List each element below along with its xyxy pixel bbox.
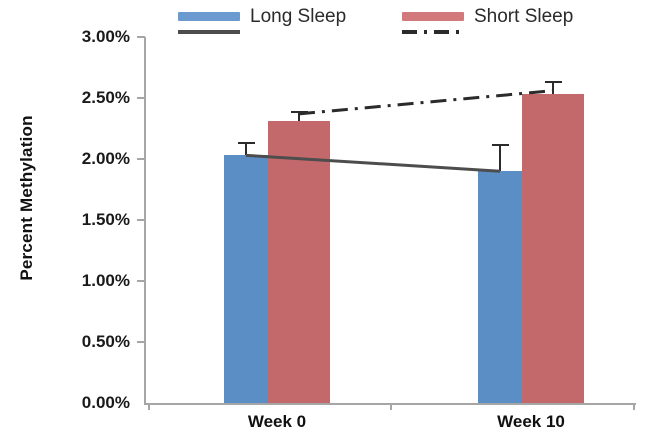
x-axis-tick-mark (390, 403, 392, 410)
legend-bar-swatch (178, 12, 240, 21)
y-axis-tick-label: 1.50% (48, 210, 130, 230)
trend-line-group (146, 37, 636, 403)
legend-bar-swatch (402, 12, 464, 21)
y-axis-tick-label: 0.50% (48, 332, 130, 352)
y-axis-tick-label: 2.00% (48, 149, 130, 169)
y-axis-title: Percent Methylation (17, 98, 37, 298)
legend-line-solid (178, 30, 240, 34)
y-axis-tick-label: 2.50% (48, 88, 130, 108)
x-axis-label-week-0: Week 0 (197, 412, 357, 432)
x-axis-tick-mark (148, 403, 150, 410)
legend-label: Long Sleep (250, 6, 346, 28)
legend-label: Short Sleep (474, 6, 573, 28)
plot-area (146, 37, 636, 403)
y-axis-tick-label: 1.00% (48, 271, 130, 291)
y-axis-tick-label: 3.00% (48, 27, 130, 47)
x-axis-label-week-10: Week 10 (451, 412, 611, 432)
trend-line-short-sleep (299, 91, 553, 114)
chart-legend: Long SleepShort Sleep (178, 6, 598, 42)
x-axis-tick-mark (633, 403, 635, 410)
legend-line-dash-dot (402, 30, 464, 34)
y-axis-tick-label: 0.00% (48, 393, 130, 413)
trend-line-long-sleep (246, 155, 500, 171)
methylation-bar-chart: Percent Methylation 0.00%0.50%1.00%1.50%… (0, 0, 650, 448)
